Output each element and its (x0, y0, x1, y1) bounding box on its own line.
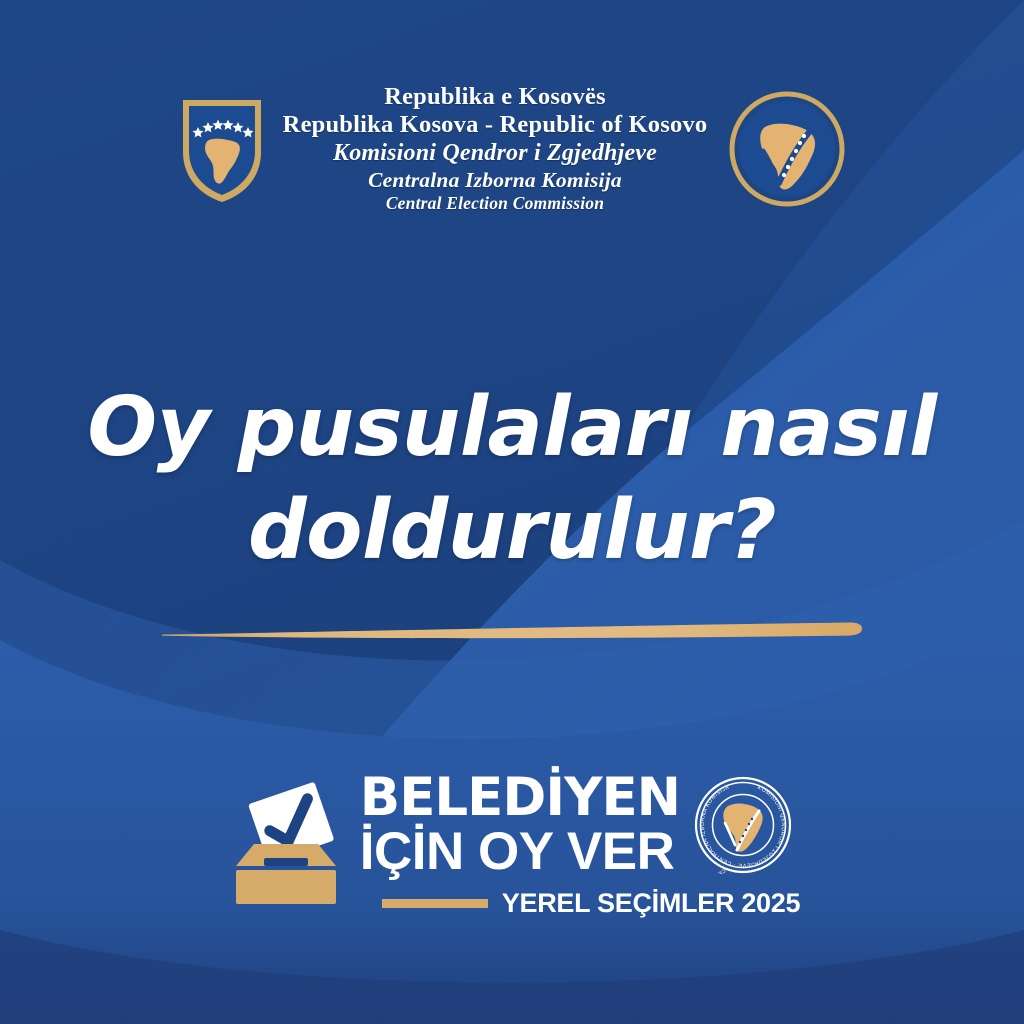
header-line-1: Republika e Kosovës (283, 83, 708, 111)
campaign-slogan: BELEDİYEN İÇİN OY VER (360, 772, 680, 878)
campaign-lockup: BELEDİYEN İÇİN OY VER KOMISIONI QENDROR … (0, 772, 1024, 919)
kosovo-coat-of-arms-shield-icon (179, 94, 265, 206)
page-title-line-1: Oy pusulaları nasıl (0, 376, 1024, 479)
gold-tapered-rule (160, 612, 864, 652)
header-line-4: Centralna Izborna Komisija (283, 168, 708, 193)
campaign-slogan-block: BELEDİYEN İÇİN OY VER KOMISIONI QENDROR … (360, 772, 800, 919)
poster-canvas: Republika e Kosovës Republika Kosova - R… (0, 0, 1024, 1024)
campaign-subline: YEREL SEÇİMLER 2025 (382, 888, 800, 919)
campaign-slogan-row: BELEDİYEN İÇİN OY VER KOMISIONI QENDROR … (360, 772, 792, 878)
header-line-5: Central Election Commission (283, 193, 708, 213)
slogan-line-2: İÇİN OY VER (360, 826, 680, 877)
cec-official-seal-icon: KOMISIONI QENDROR I ZGJEDHJEVE · CENTRAL… (694, 776, 792, 874)
subline-gold-rule (382, 899, 488, 908)
institution-title-block: Republika e Kosovës Republika Kosova - R… (283, 83, 708, 214)
header-line-3: Komisioni Qendror i Zgjedhjeve (283, 140, 708, 168)
ballot-box-with-vote-slip-icon (224, 780, 348, 908)
institution-header: Republika e Kosovës Republika Kosova - R… (0, 78, 1024, 218)
subline-text: YEREL SEÇİMLER 2025 (502, 888, 800, 919)
page-title-line-2: doldurulur? (0, 479, 1024, 582)
cec-kosovo-roundel-icon (729, 91, 845, 207)
header-line-2: Republika Kosova - Republic of Kosovo (283, 111, 708, 139)
slogan-line-1: BELEDİYEN (360, 772, 680, 823)
page-title: Oy pusulaları nasıl doldurulur? (0, 376, 1024, 583)
